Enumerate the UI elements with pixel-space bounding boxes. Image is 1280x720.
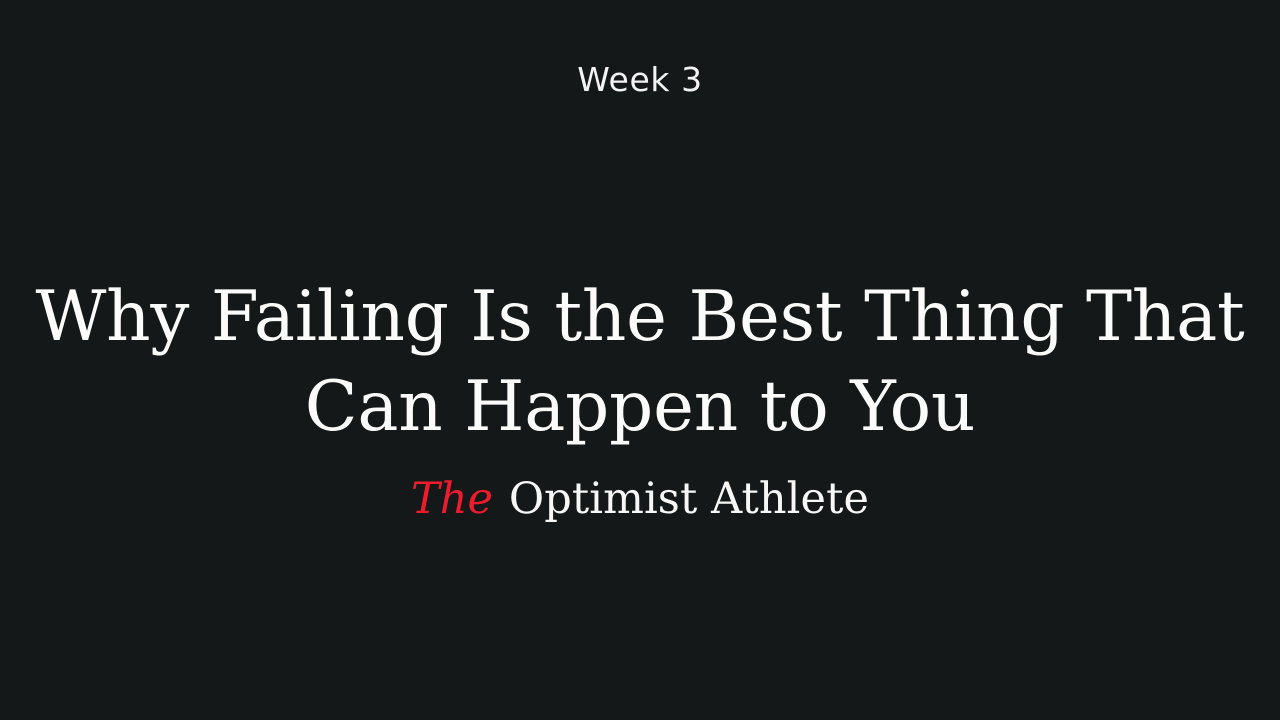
presentation-slide: Week 3 Why Failing Is the Best Thing Tha…: [0, 0, 1280, 720]
headline-block: Why Failing Is the Best Thing That Can H…: [0, 272, 1280, 452]
brand-name: Optimist Athlete: [495, 474, 869, 524]
brand-subtitle: The Optimist Athlete: [0, 471, 1280, 527]
headline-line-2: Can Happen to You: [0, 362, 1280, 452]
subtitle-band: The Optimist Athlete: [0, 471, 1280, 527]
brand-accent-word: The: [411, 474, 495, 524]
week-label: Week 3: [577, 59, 703, 101]
page-title: Why Failing Is the Best Thing That Can H…: [0, 272, 1280, 452]
headline-line-1: Why Failing Is the Best Thing That: [0, 272, 1280, 362]
eyebrow-band: Week 3: [0, 59, 1280, 101]
